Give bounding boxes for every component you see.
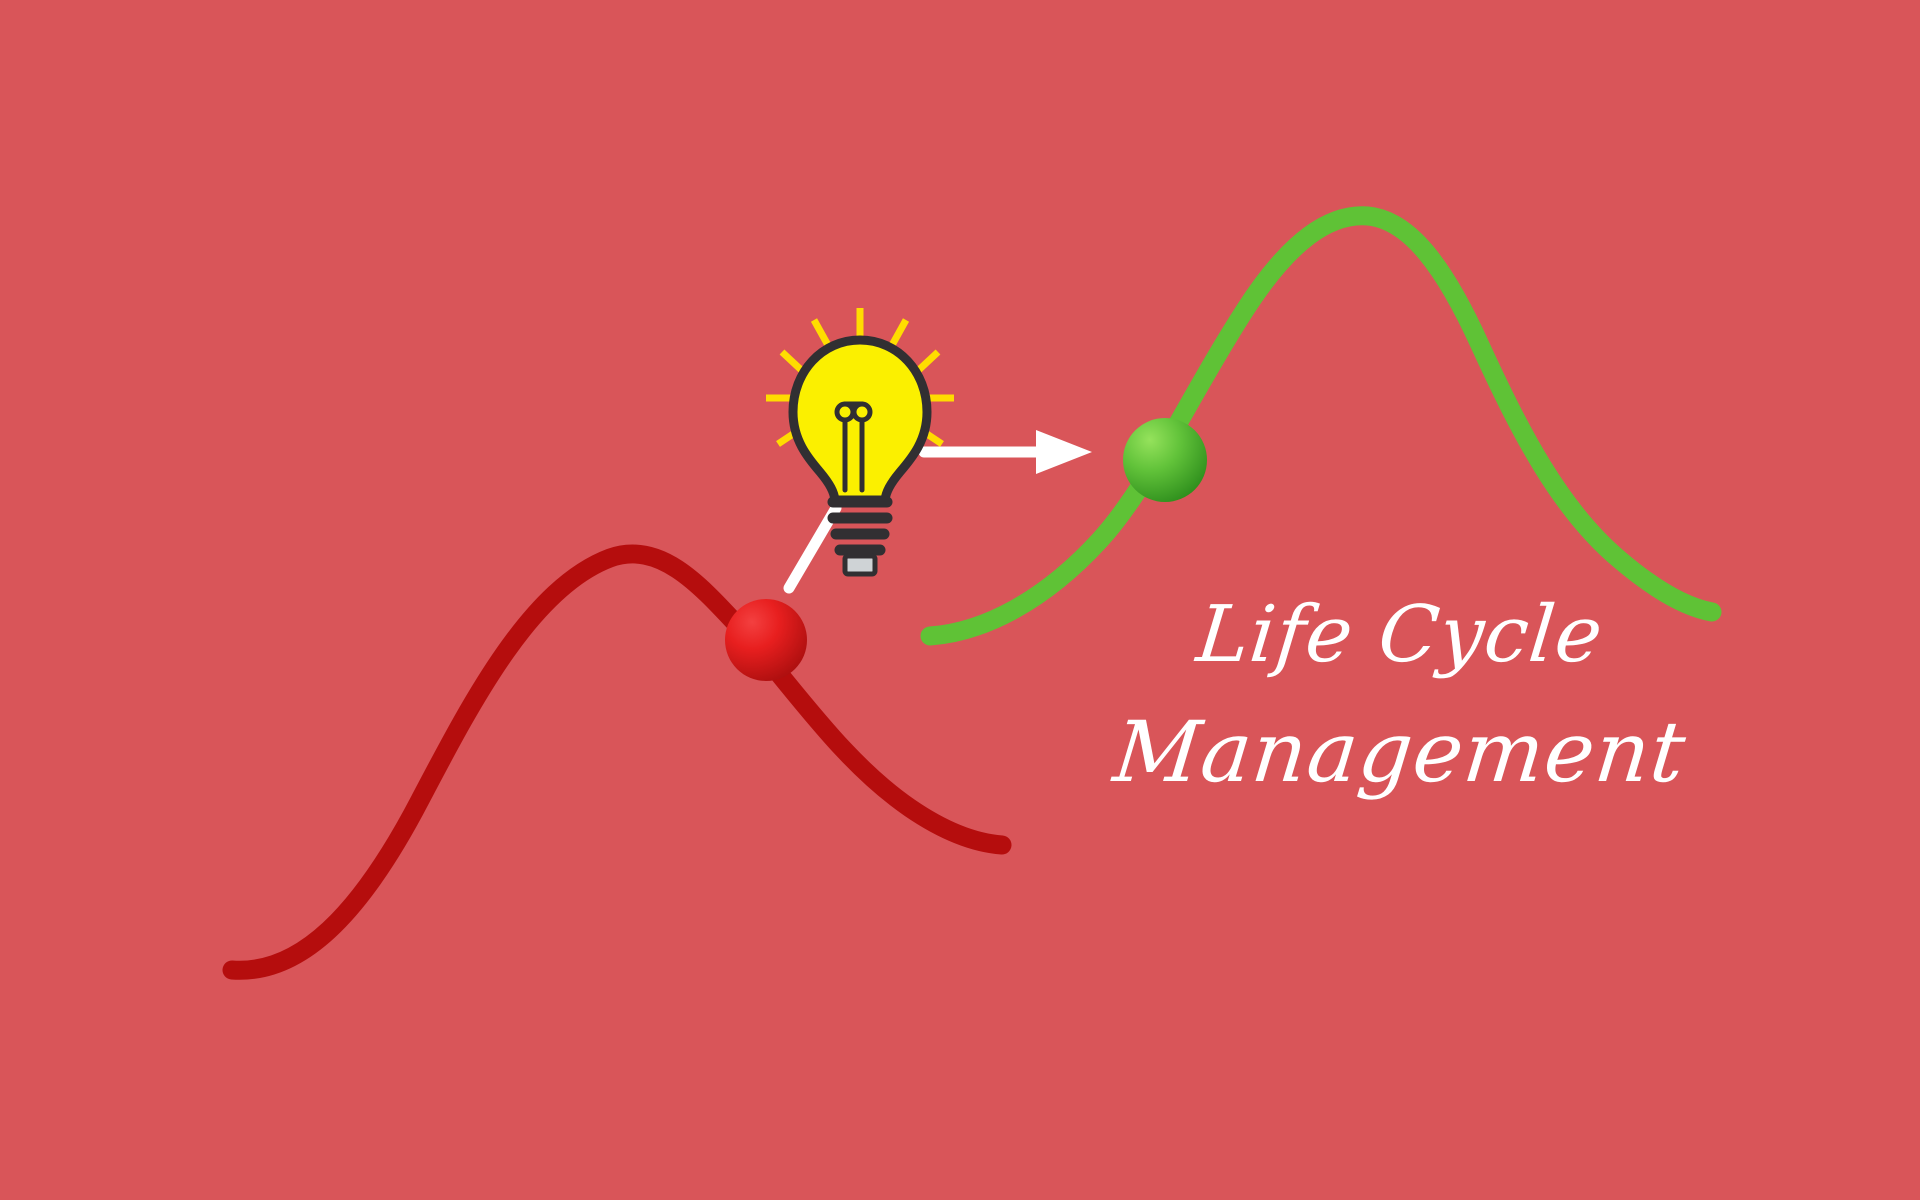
red-stage-marker[interactable] bbox=[725, 599, 807, 681]
slide-canvas: Life Cycle Management bbox=[0, 0, 1920, 1200]
background bbox=[0, 0, 1920, 1200]
life-cycle-diagram bbox=[0, 0, 1920, 1200]
green-stage-marker[interactable] bbox=[1123, 418, 1207, 502]
